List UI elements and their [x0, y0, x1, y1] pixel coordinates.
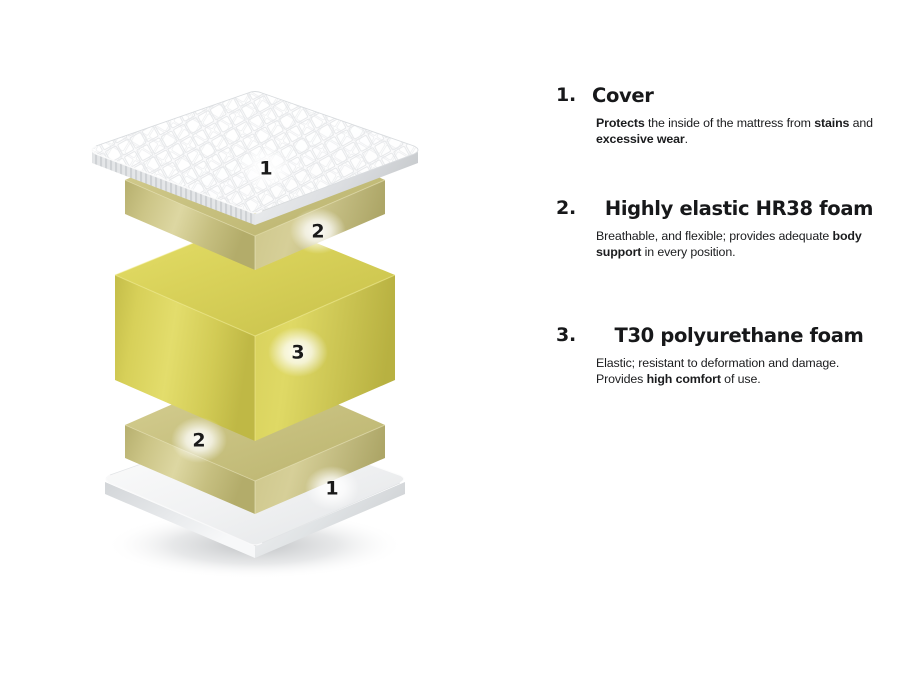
legend-description: Elastic; resistant to deformation and da…	[596, 355, 886, 388]
legend-description: Breathable, and flexible; provides adequ…	[596, 228, 886, 261]
layer-number-text: 2	[311, 221, 324, 243]
legend-index: 3.	[556, 324, 592, 347]
legend-title: T30 polyurethane foam	[592, 324, 886, 348]
legend-title: Highly elastic HR38 foam	[592, 197, 886, 221]
layer-label-1-bottom: 1	[305, 466, 359, 510]
legend-title: Cover	[592, 84, 886, 108]
legend-description: Protects the inside of the mattress from…	[596, 115, 886, 148]
layer-number-text: 2	[192, 430, 205, 452]
layer-label-2-bottom: 2	[171, 417, 227, 463]
legend-item-t30-foam: 3. T30 polyurethane foam Elastic; resist…	[556, 324, 886, 388]
layer-label-1-top: 1	[239, 146, 293, 190]
layer-label-3-core: 3	[268, 327, 328, 377]
legend-index: 2.	[556, 197, 592, 220]
layer-number-text: 1	[325, 478, 338, 500]
legend-item-cover: 1. Cover Protects the inside of the matt…	[556, 84, 886, 148]
diagram-svg: 1 2 3 2 1	[70, 90, 490, 590]
legend-index: 1.	[556, 84, 592, 107]
legend-item-hr38-foam: 2. Highly elastic HR38 foam Breathable, …	[556, 197, 886, 261]
mattress-layers-infographic: 1 2 3 2 1	[0, 0, 900, 675]
legend-head: 3. T30 polyurethane foam	[556, 324, 886, 348]
layer-label-2-top: 2	[290, 208, 346, 254]
layer-number-text: 1	[259, 158, 272, 180]
layer-number-text: 3	[291, 342, 304, 364]
legend-head: 1. Cover	[556, 84, 886, 108]
exploded-mattress-diagram: 1 2 3 2 1	[70, 90, 490, 590]
legend-head: 2. Highly elastic HR38 foam	[556, 197, 886, 221]
